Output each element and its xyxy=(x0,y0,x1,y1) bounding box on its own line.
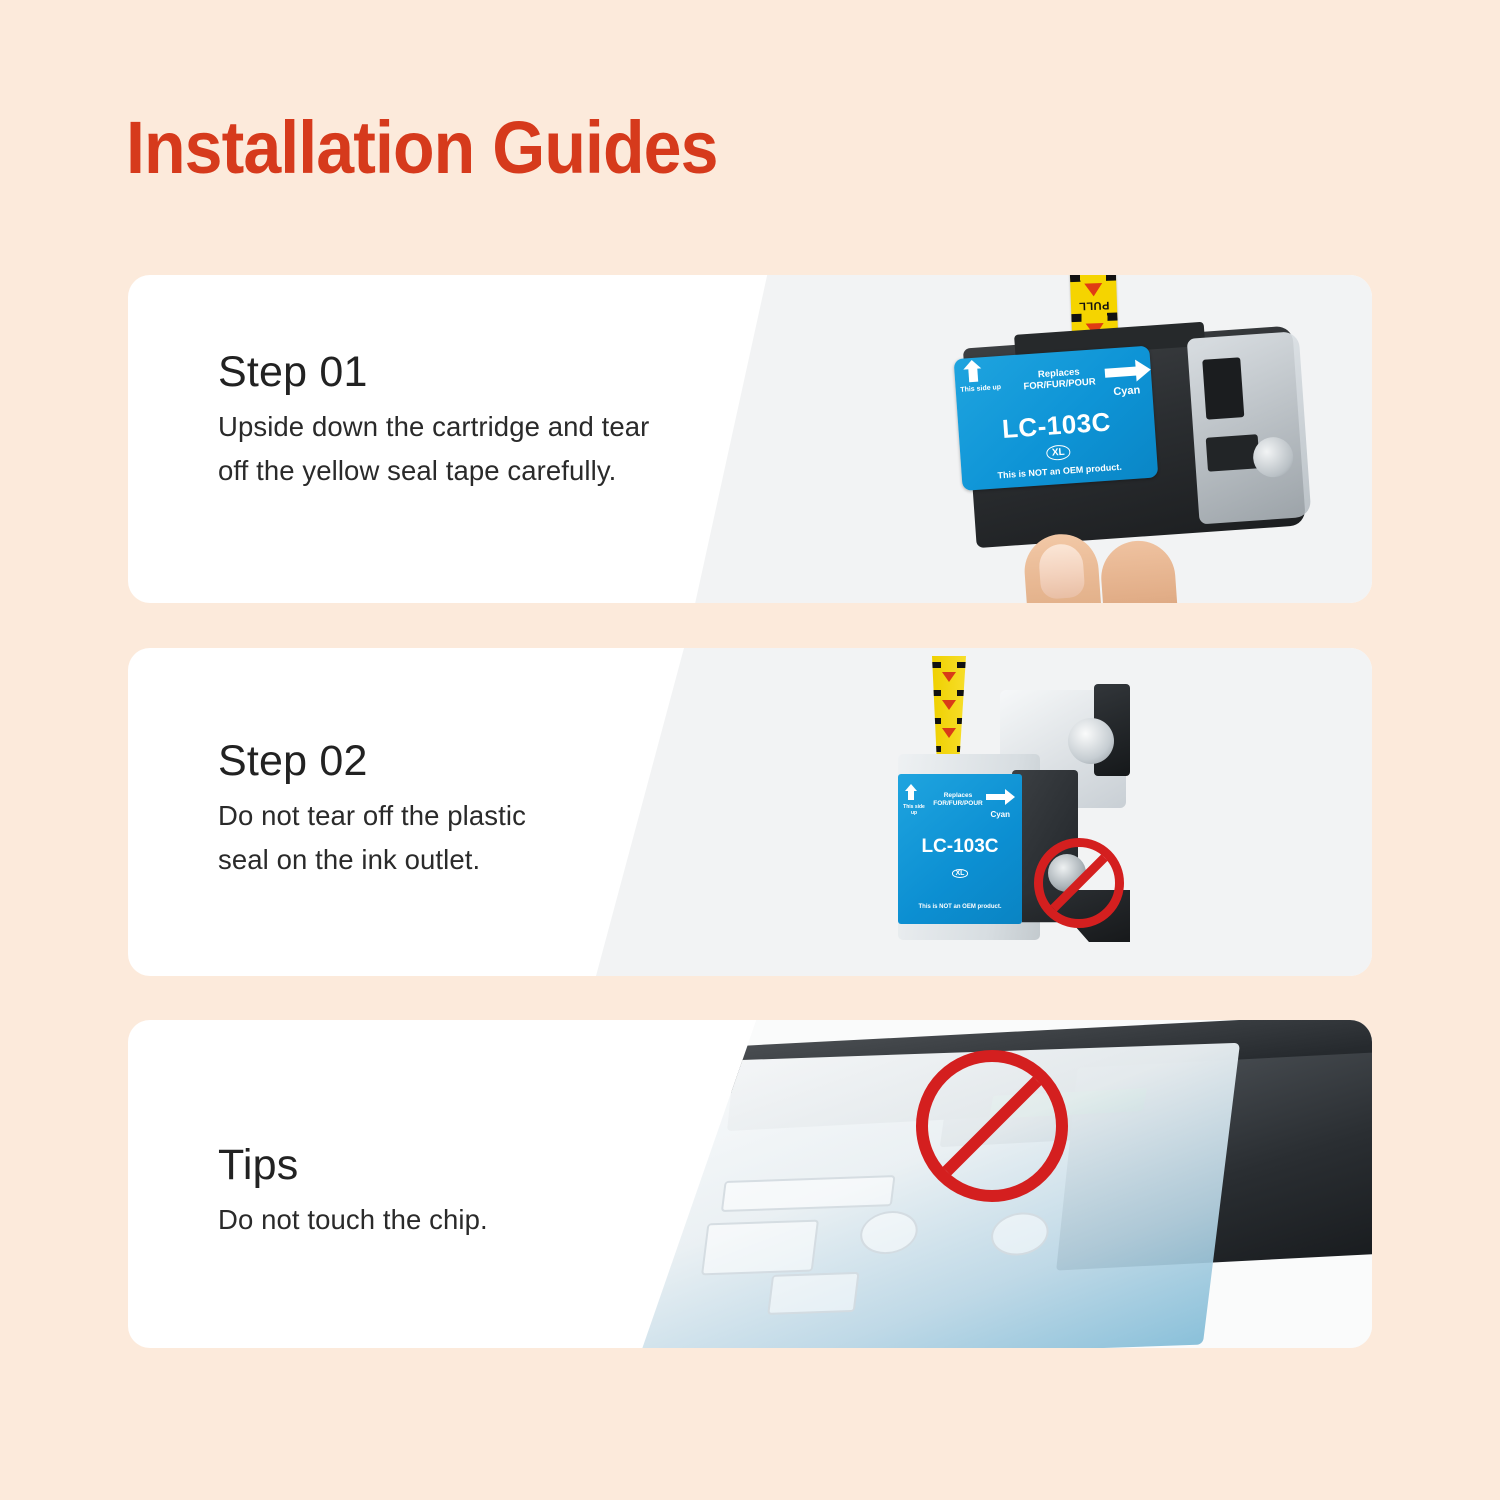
tips-heading: Tips xyxy=(218,1140,488,1190)
cartridge-clear-housing xyxy=(1187,331,1312,524)
prohibition-icon xyxy=(916,1050,1068,1202)
molded-detail xyxy=(721,1175,896,1212)
step-card-01: PULL PULL This side up Replaces FOR/FUR/… xyxy=(128,275,1372,603)
step-02-photo: This side up Replaces FOR/FUR/POUR Cyan … xyxy=(572,648,1372,976)
page-title: Installation Guides xyxy=(126,106,718,190)
label-model-number: LC-103C xyxy=(898,836,1022,858)
step-02-text-block: Step 02 Do not tear off the plastic seal… xyxy=(218,736,526,882)
molded-detail xyxy=(701,1219,819,1275)
label-oem-disclaimer: This is NOT an OEM product. xyxy=(898,904,1022,910)
label-right-arrow-icon xyxy=(1105,366,1138,377)
step-01-heading: Step 01 xyxy=(218,347,649,397)
ink-cartridge-upside-down: PULL PULL This side up Replaces FOR/FUR/… xyxy=(941,275,1322,603)
label-side-up-text: This side up xyxy=(960,384,1002,395)
cartridge-label: This side up Replaces FOR/FUR/POUR Cyan … xyxy=(954,346,1159,491)
molded-detail xyxy=(858,1210,921,1255)
label-replaces-text: Replaces FOR/FUR/POUR xyxy=(1013,365,1106,393)
finger-1 xyxy=(1022,532,1103,603)
finger-2 xyxy=(1099,538,1179,603)
fingernail xyxy=(1038,543,1086,600)
step-02-heading: Step 02 xyxy=(218,736,526,786)
pull-tape-text-1: PULL xyxy=(1078,299,1109,312)
step-01-photo: PULL PULL This side up Replaces FOR/FUR/… xyxy=(652,275,1372,603)
infographic-page: Installation Guides PULL PULL xyxy=(0,0,1500,1500)
this-side-up-arrow-icon xyxy=(908,790,914,800)
label-side-up-text: This side up xyxy=(900,804,928,816)
label-xl-badge: XL xyxy=(898,862,1022,880)
label-right-arrow-icon xyxy=(986,794,1006,800)
hand-holding-cartridge xyxy=(1018,517,1225,603)
label-color-name: Cyan xyxy=(990,810,1010,819)
prohibition-icon xyxy=(1034,838,1124,928)
tips-card: Tips Do not touch the chip. xyxy=(128,1020,1372,1348)
label-replaces-text: Replaces FOR/FUR/POUR xyxy=(930,792,986,807)
cartridge-air-valve xyxy=(1068,718,1114,764)
molded-detail xyxy=(767,1272,859,1315)
step-card-02: This side up Replaces FOR/FUR/POUR Cyan … xyxy=(128,648,1372,976)
tips-text-block: Tips Do not touch the chip. xyxy=(218,1140,488,1242)
molded-detail xyxy=(988,1211,1051,1256)
step-01-text-block: Step 01 Upside down the cartridge and te… xyxy=(218,347,649,493)
step-02-body: Do not tear off the plastic seal on the … xyxy=(218,794,526,882)
label-color-name: Cyan xyxy=(1113,384,1141,398)
tips-photo xyxy=(612,1020,1372,1348)
step-01-body: Upside down the cartridge and tear off t… xyxy=(218,405,649,493)
cartridge-chip-closeup xyxy=(612,1020,1372,1348)
tips-body: Do not touch the chip. xyxy=(218,1198,488,1242)
cartridge-label: This side up Replaces FOR/FUR/POUR Cyan … xyxy=(898,774,1022,924)
this-side-up-arrow-icon xyxy=(968,368,978,383)
ink-cartridge-upright: This side up Replaces FOR/FUR/POUR Cyan … xyxy=(872,662,1202,962)
